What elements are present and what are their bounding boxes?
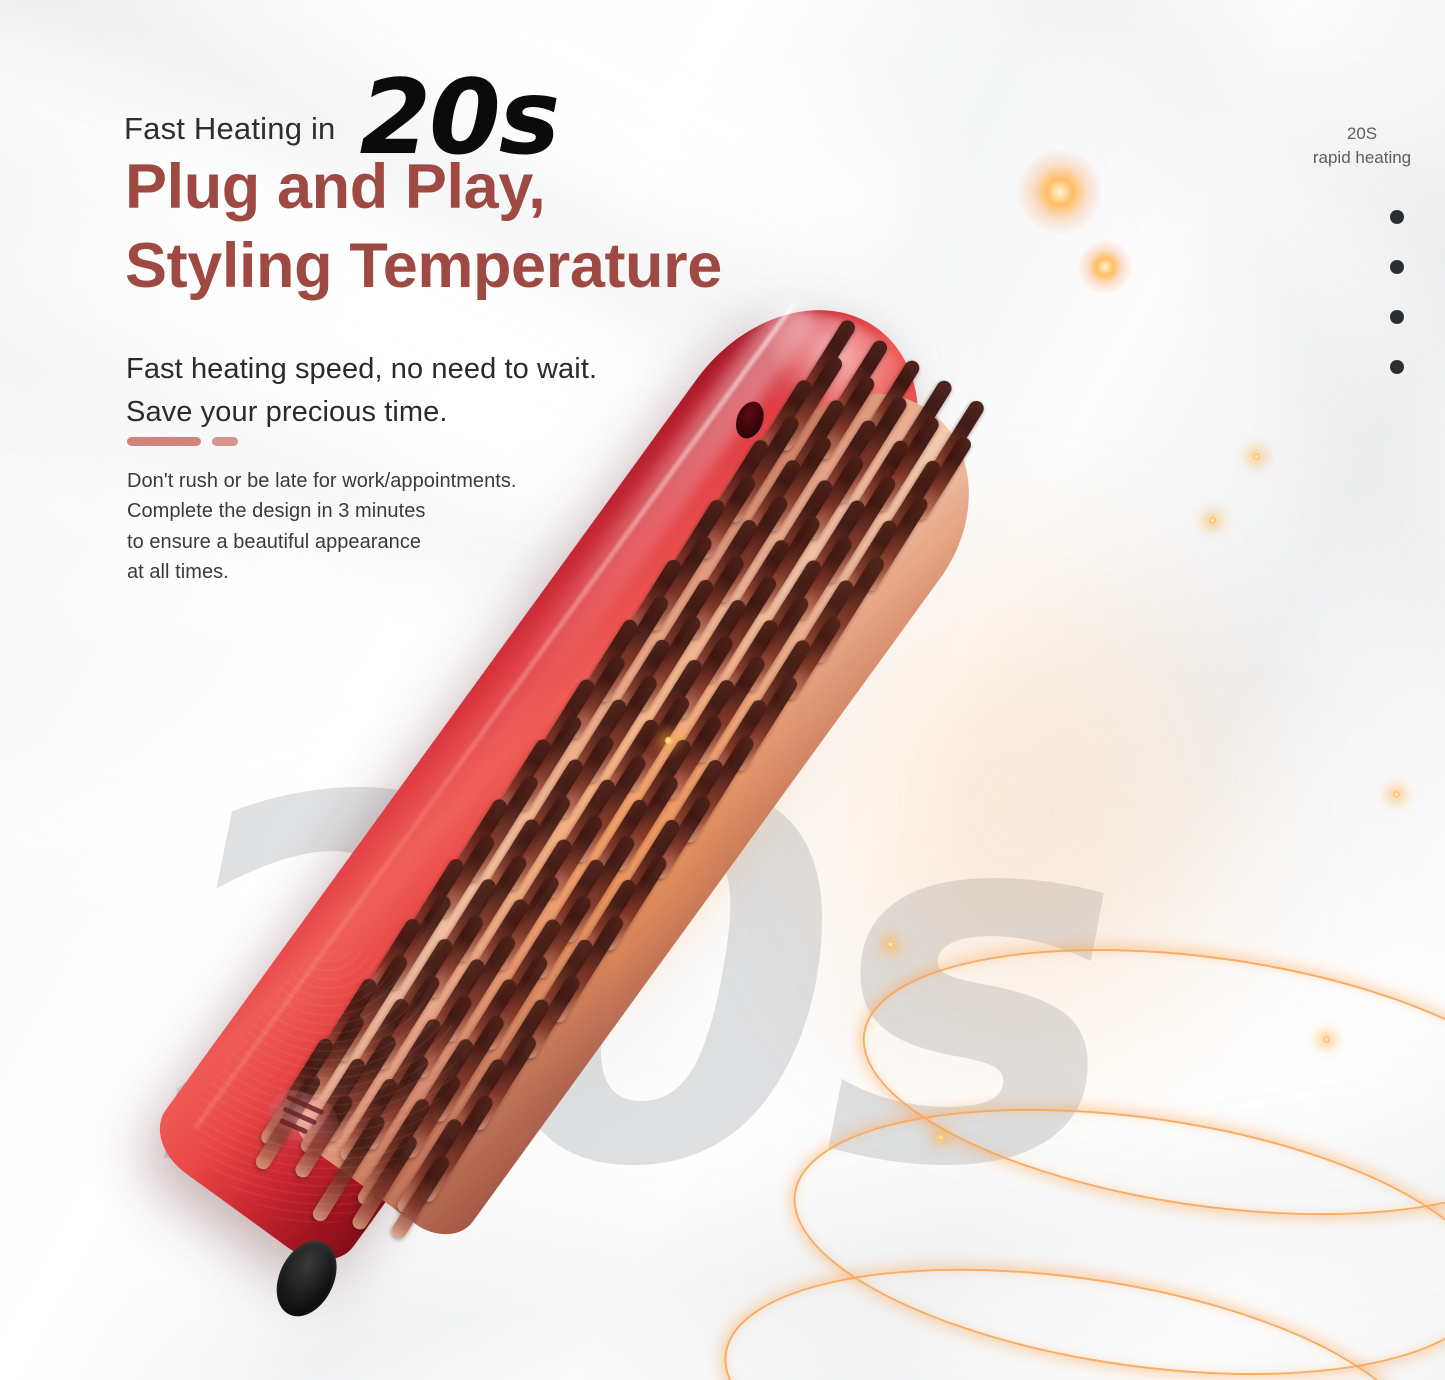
bullet-dot (1390, 210, 1404, 224)
page-title: Plug and Play, Styling Temperature (125, 148, 722, 307)
eyebrow-label: Fast Heating in (124, 111, 336, 147)
decorative-divider (127, 437, 238, 446)
body-copy-line-1: Don't rush or be late for work/appointme… (127, 466, 517, 496)
subheading-line-1: Fast heating speed, no need to wait. (126, 348, 597, 391)
body-copy-line-3: to ensure a beautiful appearance (127, 527, 517, 557)
callout-subtitle: rapid heating (1287, 146, 1437, 170)
watermark-20s: 20s (160, 735, 1105, 1235)
headline-line-2: Styling Temperature (125, 227, 722, 306)
body-copy-line-2: Complete the design in 3 minutes (127, 496, 517, 526)
subheading: Fast heating speed, no need to wait. Sav… (126, 348, 597, 434)
callout-title: 20S (1287, 122, 1437, 146)
divider-dash-long (127, 437, 201, 446)
product-feature-banner: 20s (0, 0, 1445, 1380)
body-copy-line-4: at all times. (127, 557, 517, 587)
subheading-line-2: Save your precious time. (126, 391, 597, 434)
callout-bullet-list (1390, 210, 1404, 374)
eyebrow-row: Fast Heating in 20s (124, 62, 558, 147)
headline-line-1: Plug and Play, (125, 148, 722, 227)
body-copy: Don't rush or be late for work/appointme… (127, 466, 517, 588)
bullet-dot (1390, 360, 1404, 374)
divider-dash-short (212, 437, 238, 446)
bullet-dot (1390, 310, 1404, 324)
bullet-dot (1390, 260, 1404, 274)
callout-rapid-heating: 20S rapid heating (1287, 122, 1437, 170)
